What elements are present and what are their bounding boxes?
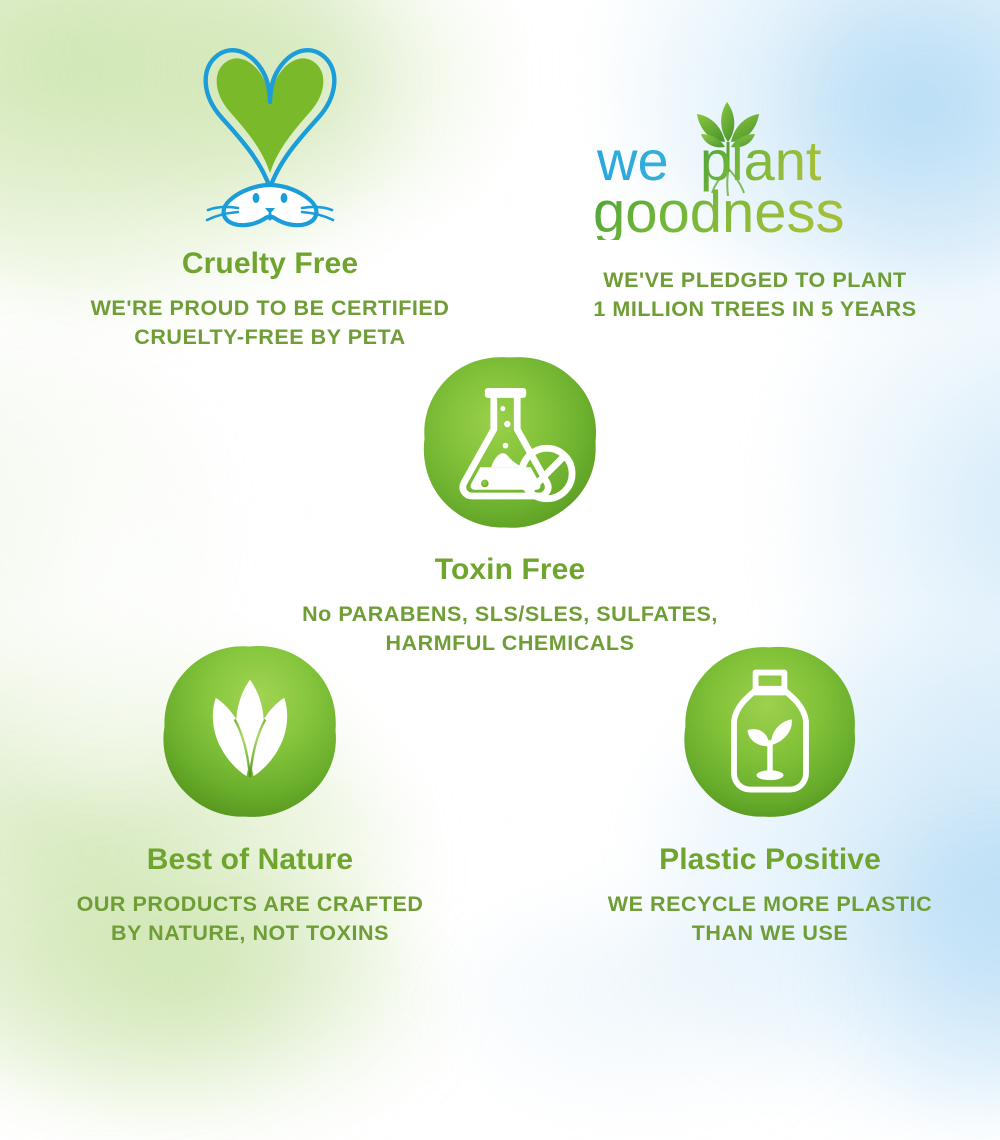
plastic-positive-title: Plastic Positive — [540, 844, 1000, 876]
section-we-plant-goodness: we plant goodness WE'VE PLEDGED TO PLANT… — [520, 100, 990, 324]
best-of-nature-subtitle: OUR PRODUCTS ARE CRAFTED BY NATURE, NOT … — [20, 890, 480, 948]
section-plastic-positive: Plastic Positive WE RECYCLE MORE PLASTIC… — [540, 642, 1000, 948]
best-of-nature-title: Best of Nature — [20, 844, 480, 876]
flask-no-toxins-icon — [420, 352, 600, 532]
plastic-positive-subtitle: WE RECYCLE MORE PLASTIC THAN WE USE — [540, 890, 1000, 948]
bottle-sprout-icon — [680, 642, 860, 822]
sprout-wordmark-icon: we plant goodness — [585, 100, 925, 240]
best-of-nature-badge — [160, 642, 340, 822]
cruelty-free-logo-box — [10, 28, 530, 228]
three-leaves-icon — [160, 642, 340, 822]
section-best-of-nature: Best of Nature OUR PRODUCTS ARE CRAFTED … — [20, 642, 480, 948]
plastic-positive-badge — [680, 642, 860, 822]
bunny-eye-left — [253, 193, 260, 203]
section-toxin-free: Toxin Free No PARABENS, SLS/SLES, SULFAT… — [250, 352, 770, 658]
we-plant-goodness-subtitle: WE'VE PLEDGED TO PLANT 1 MILLION TREES I… — [520, 266, 990, 324]
bunny-heart-ears-icon — [170, 28, 370, 228]
cruelty-free-title: Cruelty Free — [10, 248, 530, 280]
bunny-eye-right — [281, 193, 288, 203]
section-cruelty-free: Cruelty Free WE'RE PROUD TO BE CERTIFIED… — [10, 28, 530, 352]
wordmark-goodness: goodness — [593, 180, 845, 240]
toxin-free-badge — [420, 352, 600, 532]
we-plant-goodness-wordmark: we plant goodness — [585, 100, 925, 240]
cruelty-free-subtitle: WE'RE PROUD TO BE CERTIFIED CRUELTY-FREE… — [10, 294, 530, 352]
toxin-free-title: Toxin Free — [250, 554, 770, 586]
